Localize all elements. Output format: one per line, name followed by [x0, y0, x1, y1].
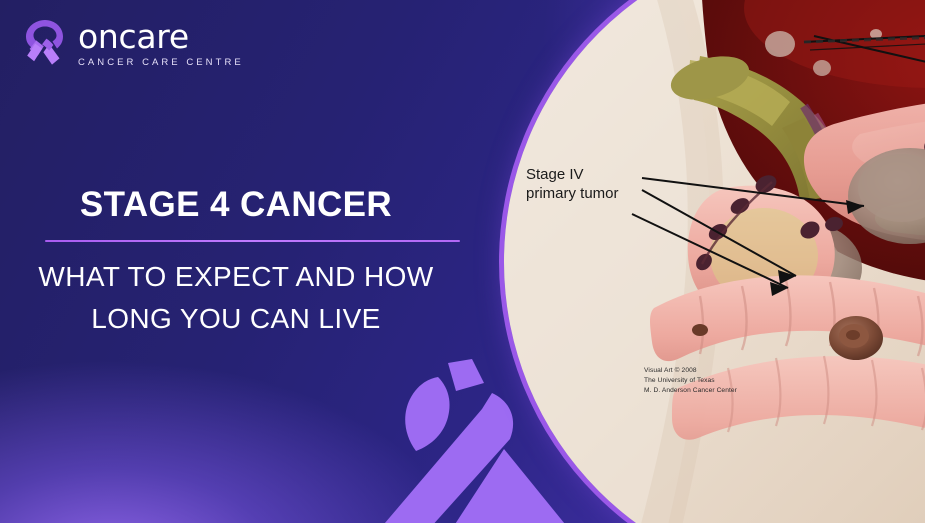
page-title: STAGE 4 CANCER [0, 186, 520, 225]
awareness-ribbon-icon [22, 18, 67, 70]
brand-name: oncare [78, 20, 244, 54]
illustration-credit: Visual Art © 2008 The University of Texa… [644, 366, 737, 397]
anatomy-artwork [504, 0, 925, 523]
brand-tagline: CANCER CARE CENTRE [78, 57, 244, 68]
headline-block: STAGE 4 CANCER WHAT TO EXPECT AND HOW LO… [0, 186, 520, 341]
tumor-annotation-label: Stage IV primary tumor [526, 166, 619, 204]
brand-logo[interactable]: oncare CANCER CARE CENTRE [22, 18, 244, 70]
subtitle-line-1: WHAT TO EXPECT AND HOW [0, 256, 520, 299]
illustration-canvas: Stage IV primary tumor Visual Art © 2008… [504, 0, 925, 523]
promo-banner: oncare CANCER CARE CENTRE STAGE 4 CANCER… [0, 0, 925, 523]
title-divider [45, 240, 460, 242]
subtitle-line-2: LONG YOU CAN LIVE [0, 298, 520, 341]
stage-iv-cancer-anatomical-illustration: Stage IV primary tumor Visual Art © 2008… [504, 0, 925, 523]
brand-logo-text: oncare CANCER CARE CENTRE [78, 20, 244, 68]
